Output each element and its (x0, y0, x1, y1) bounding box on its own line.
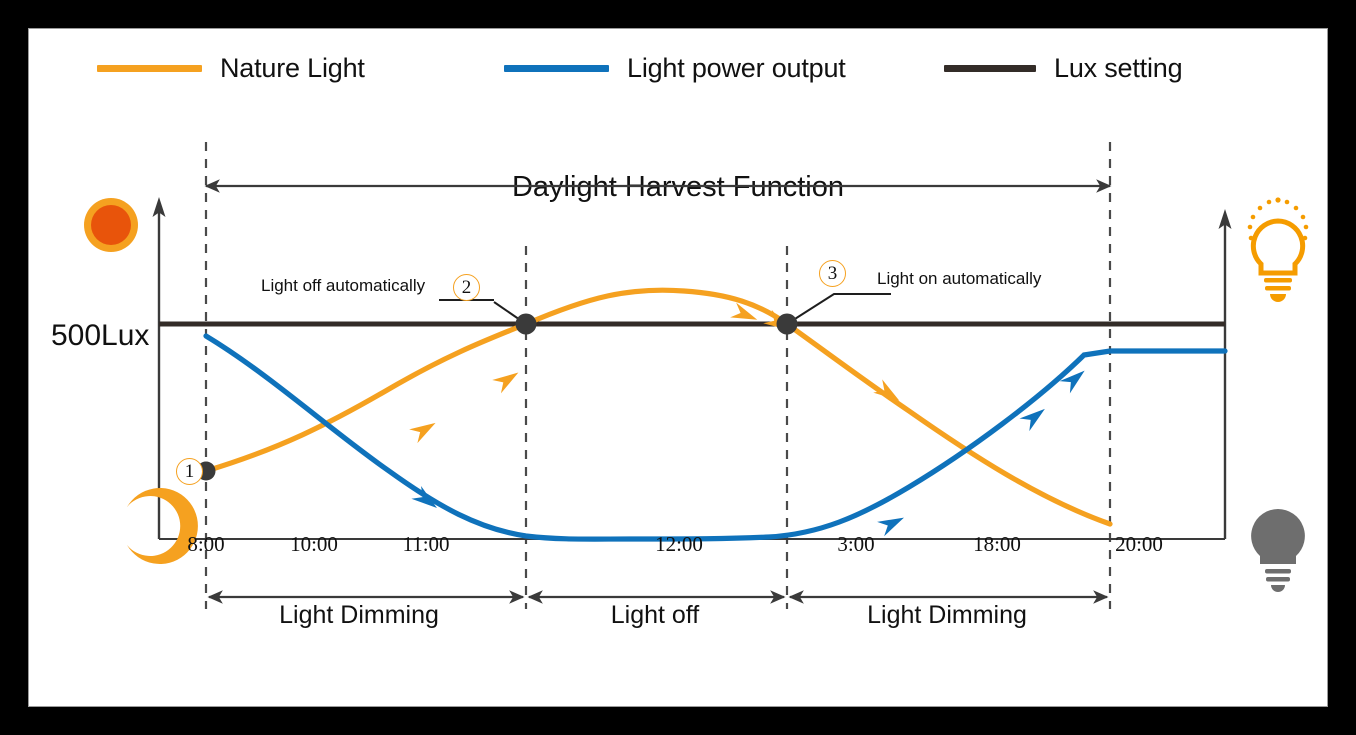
x-tick-3-00: 3:00 (837, 532, 874, 557)
marker-point-2 (516, 314, 537, 335)
callout-leader-3 (787, 294, 891, 324)
x-tick-20-00: 20:00 (1115, 532, 1163, 557)
y-axis-right (1219, 209, 1232, 539)
marker-point-3 (777, 314, 798, 335)
segment-label-light-off: Light off (611, 601, 700, 630)
bulb-on-icon (1248, 197, 1309, 302)
badge-marker-2: 2 (453, 274, 480, 301)
segment-label-light-dimming-1: Light Dimming (279, 601, 439, 630)
badge-marker-1: 1 (176, 458, 203, 485)
badge-marker-3: 3 (819, 260, 846, 287)
callout-light-off-automatically: Light off automatically (261, 276, 425, 296)
diagram-frame: Nature Light Light power output Lux sett… (28, 28, 1328, 707)
segment-label-light-dimming-2: Light Dimming (867, 601, 1027, 630)
x-tick-18-00: 18:00 (973, 532, 1021, 557)
x-tick-8-00: 8:00 (187, 532, 224, 557)
y-axis-left (153, 197, 166, 539)
sun-icon (84, 198, 138, 252)
x-tick-10-00: 10:00 (290, 532, 338, 557)
bulb-off-icon (1251, 509, 1305, 592)
callout-leaders (439, 294, 891, 324)
x-tick-12-00: 12:00 (655, 532, 703, 557)
series-arrows-light-power-output (411, 364, 1089, 536)
callout-light-on-automatically: Light on automatically (877, 269, 1041, 289)
x-tick-11-00: 11:00 (402, 532, 449, 557)
